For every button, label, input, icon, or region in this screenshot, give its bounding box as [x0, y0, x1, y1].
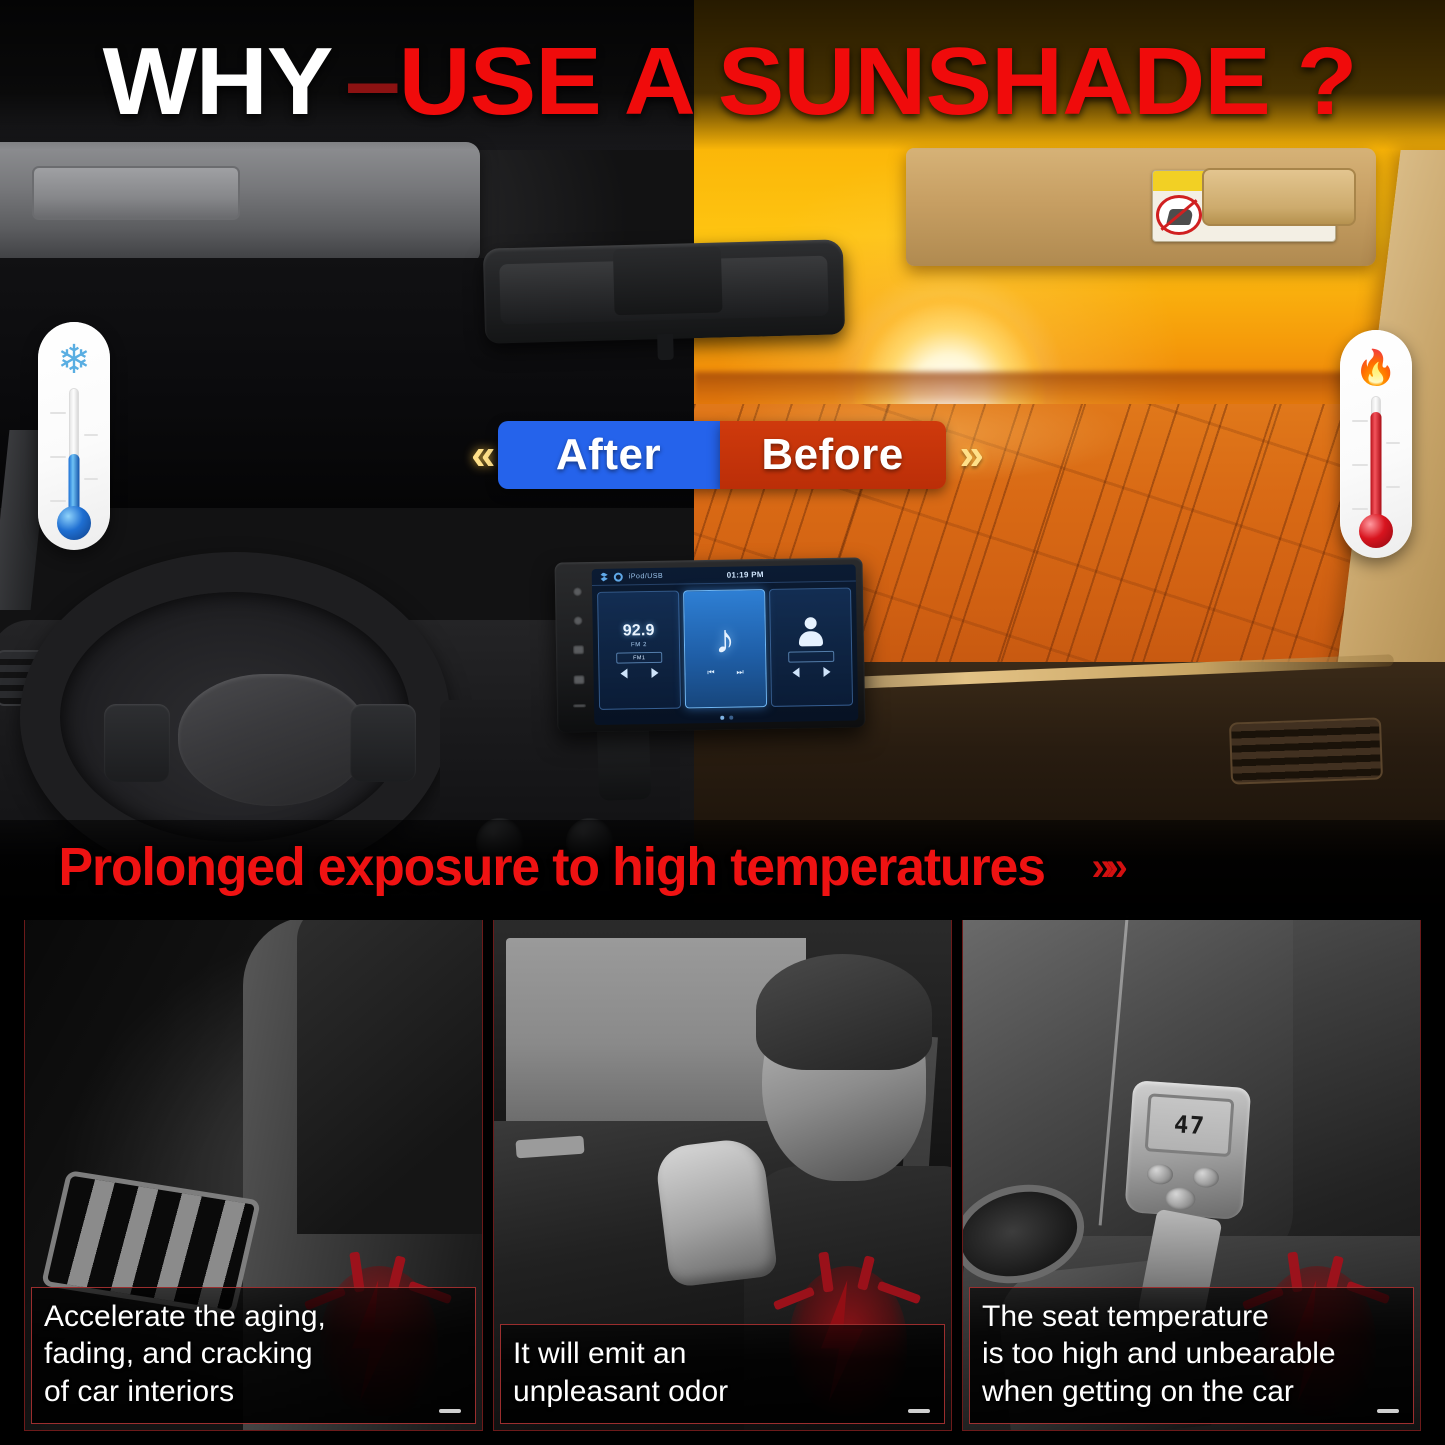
media-transport-controls[interactable]: ⏮ ⏭: [707, 667, 744, 678]
steering-wheel-hub: [178, 674, 368, 806]
ir-button-center: [1165, 1187, 1196, 1211]
radio-seek-controls[interactable]: [620, 668, 658, 679]
title-dash: –: [345, 34, 399, 130]
panel-row: Accelerate the aging, fading, and cracki…: [0, 915, 1445, 1445]
radio-tile[interactable]: 92.9 FM 2 FM1: [597, 591, 681, 710]
person-hand: [654, 1136, 778, 1288]
menu-button-icon[interactable]: [573, 675, 584, 684]
panel-2-caption: It will emit an unpleasant odor: [500, 1324, 945, 1424]
ir-thermometer-body: 47: [1124, 1080, 1251, 1220]
media-tile[interactable]: ♪ ⏮ ⏭: [683, 589, 767, 708]
hot-thermometer-bulb: [1359, 514, 1393, 548]
left-chevrons-icon: «: [469, 433, 487, 477]
eject-button-icon[interactable]: [573, 704, 586, 707]
after-badge[interactable]: After: [498, 421, 720, 489]
mid-banner-text: Prolonged exposure to high temperatures: [59, 836, 1045, 898]
phone-tile[interactable]: [769, 588, 853, 707]
mid-banner: Prolonged exposure to high temperatures …: [38, 836, 1120, 898]
contact-next-icon[interactable]: [823, 667, 830, 677]
person-hair: [756, 954, 932, 1070]
sun-visor-left: [0, 142, 480, 262]
home-button-icon[interactable]: [573, 617, 582, 626]
steering-controls-right: [350, 704, 416, 782]
head-unit-screen[interactable]: iPod/USB 01:19 PM 92.9 FM 2 FM1 ♪: [592, 564, 859, 725]
mid-banner-chevrons-icon: »»: [1091, 845, 1120, 890]
panel-1-caption-cursor: [439, 1409, 461, 1413]
page-dot-active[interactable]: [720, 715, 724, 719]
panel-seat-temperature[interactable]: 47 The seat temperature: [962, 915, 1421, 1431]
flame-icon: 🔥: [1355, 351, 1397, 385]
seek-up-icon[interactable]: [651, 668, 658, 678]
panel-2-caption-text: It will emit an unpleasant odor: [513, 1335, 932, 1411]
rearview-mirror: [483, 239, 845, 343]
wifi-icon: [614, 572, 623, 581]
radio-preset-button[interactable]: FM1: [616, 652, 663, 664]
contact-scroll-controls[interactable]: [792, 667, 830, 678]
seek-down-icon[interactable]: [620, 668, 627, 678]
before-badge-label: Before: [761, 430, 903, 480]
radio-frequency: 92.9: [623, 622, 655, 641]
panel-unpleasant-odor[interactable]: It will emit an unpleasant odor: [493, 915, 952, 1431]
power-button-icon[interactable]: [572, 587, 581, 596]
head-unit-tiles: 92.9 FM 2 FM1 ♪ ⏮ ⏭: [592, 581, 858, 714]
rearview-mirror-stem: [657, 334, 674, 360]
sunshade-product-poster: WARNING: [0, 0, 1445, 1445]
panel-2-caption-cursor: [908, 1409, 930, 1413]
dashcam-module: [613, 246, 723, 315]
head-unit-mount: [597, 721, 652, 801]
comparison-badges: « After Before »: [0, 412, 1445, 498]
flame-icon-wrap: 🔥: [1355, 342, 1397, 394]
previous-track-icon[interactable]: ⏮: [707, 668, 714, 678]
sun-visor-right: WARNING: [906, 148, 1376, 266]
visor-mirror-right: [1202, 168, 1356, 226]
title-word-why: WHY: [103, 34, 333, 130]
ir-button-left: [1146, 1163, 1173, 1185]
ir-thermometer-display: 47: [1145, 1093, 1235, 1157]
steering-controls-left: [104, 704, 170, 782]
contact-name-field[interactable]: [788, 651, 835, 663]
clock-label: 01:19 PM: [727, 570, 764, 580]
volume-button-icon[interactable]: [572, 646, 583, 655]
panel-aging-interiors[interactable]: Accelerate the aging, fading, and cracki…: [24, 915, 483, 1431]
panel-3-caption: The seat temperature is too high and unb…: [969, 1287, 1414, 1424]
ir-temperature-reading: 47: [1173, 1110, 1206, 1140]
person-icon: [798, 617, 825, 647]
media-source-label: iPod/USB: [629, 572, 663, 580]
visor-mirror-left: [32, 166, 240, 220]
panel-3-caption-cursor: [1377, 1409, 1399, 1413]
panel-1-caption-text: Accelerate the aging, fading, and cracki…: [44, 1298, 463, 1411]
air-vent-right: [1229, 717, 1383, 784]
right-chevrons-icon: »: [958, 433, 976, 477]
seat-back: [297, 915, 483, 1234]
cold-thermometer-bulb: [57, 506, 91, 540]
ir-button-right: [1192, 1167, 1219, 1189]
snowflake-icon: ❄: [57, 340, 91, 380]
snowflake-icon-wrap: ❄: [57, 334, 91, 386]
music-note-icon: ♪: [715, 620, 736, 660]
benefits-bottom-section: Accelerate the aging, fading, and cracki…: [0, 905, 1445, 1445]
page-title: WHY – USE A SUNSHADE ?: [0, 26, 1445, 138]
panel-1-caption: Accelerate the aging, fading, and cracki…: [31, 1287, 476, 1424]
page-dot-inactive[interactable]: [729, 715, 733, 719]
no-child-seat-icon: [1156, 195, 1202, 235]
before-badge[interactable]: Before: [720, 421, 946, 489]
head-unit-side-buttons[interactable]: [562, 569, 595, 725]
contact-prev-icon[interactable]: [792, 667, 799, 677]
title-word-red: USE A SUNSHADE ?: [398, 34, 1356, 130]
panel-3-caption-text: The seat temperature is too high and unb…: [982, 1298, 1401, 1411]
after-badge-label: After: [556, 430, 661, 480]
child-seat-glyph: [1166, 209, 1194, 225]
next-track-icon[interactable]: ⏭: [736, 667, 743, 677]
radio-band: FM 2: [631, 642, 647, 648]
infotainment-head-unit[interactable]: iPod/USB 01:19 PM 92.9 FM 2 FM1 ♪: [555, 557, 866, 732]
bluetooth-icon: [599, 572, 608, 581]
